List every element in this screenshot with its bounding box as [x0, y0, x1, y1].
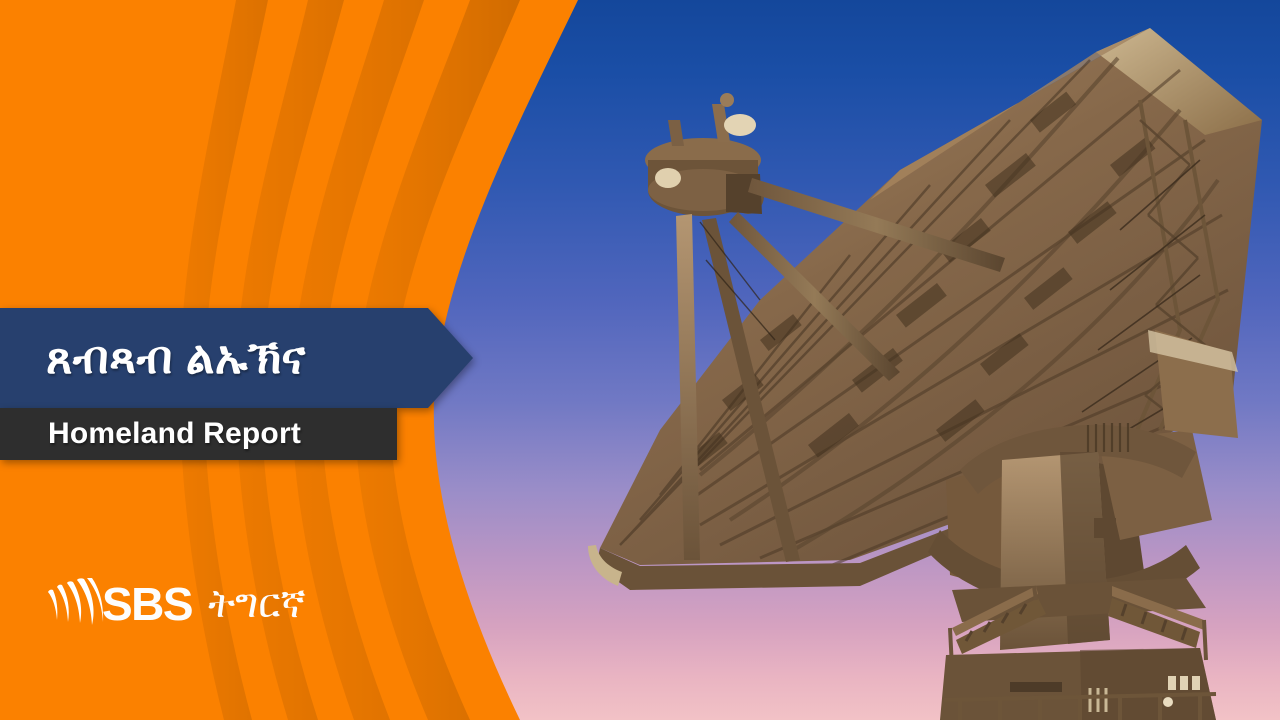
sbs-language-label: ትግርኛ — [208, 584, 306, 624]
secondary-title-text: Homeland Report — [48, 408, 301, 460]
secondary-title-banner: Homeland Report — [0, 408, 397, 460]
primary-title-text: ጸብጻብ ልኡኽና — [46, 308, 306, 408]
sbs-logo: SBS ትግርኛ — [46, 578, 306, 630]
sbs-wordmark: SBS — [102, 581, 192, 627]
primary-title-banner: ጸብጻብ ልኡኽና — [0, 308, 474, 408]
podcast-cover-art: ጸብጻብ ልኡኽና Homeland Report SBS ትግርኛ — [0, 0, 1280, 720]
sbs-swoosh-icon — [46, 578, 104, 630]
